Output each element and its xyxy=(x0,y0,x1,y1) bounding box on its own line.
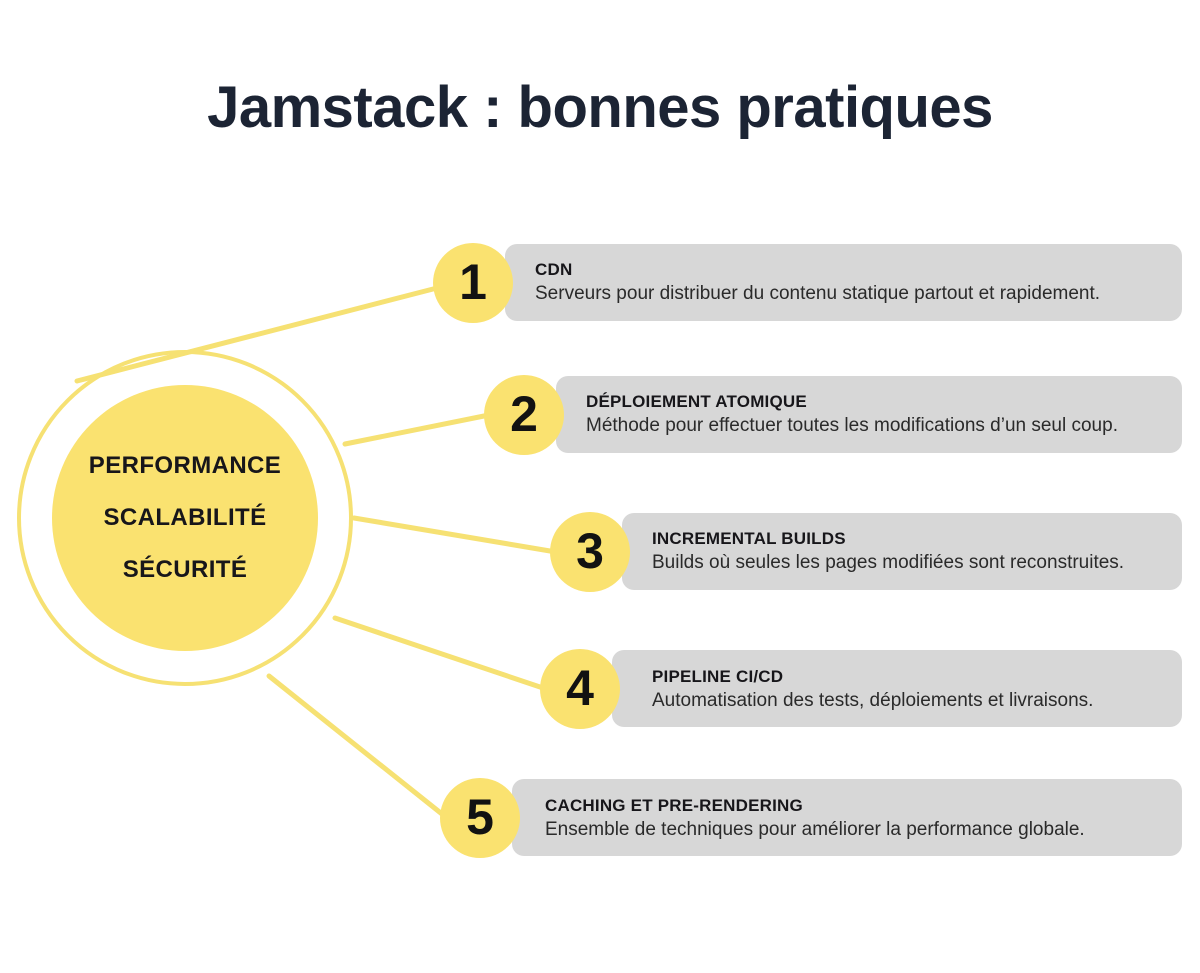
row-text-1: CDN Serveurs pour distribuer du contenu … xyxy=(535,260,1100,306)
row-circle-4[interactable]: 4 xyxy=(540,649,620,729)
row-description-5: Ensemble de techniques pour améliorer la… xyxy=(545,818,1085,842)
row-circle-1[interactable]: 1 xyxy=(433,243,513,323)
hub-core-circle: PERFORMANCE SCALABILITÉ SÉCURITÉ xyxy=(52,385,318,651)
row-title-4: PIPELINE CI/CD xyxy=(652,667,1093,687)
row-circle-3[interactable]: 3 xyxy=(550,512,630,592)
hub-label-performance: PERFORMANCE xyxy=(89,454,281,478)
row-title-1: CDN xyxy=(535,260,1100,280)
row-circle-2[interactable]: 2 xyxy=(484,375,564,455)
row-number-2: 2 xyxy=(510,389,538,439)
row-description-2: Méthode pour effectuer toutes les modifi… xyxy=(586,414,1118,438)
connector-line-4 xyxy=(335,618,546,689)
row-title-3: INCREMENTAL BUILDS xyxy=(652,529,1124,549)
row-text-5: CACHING ET PRE-RENDERING Ensemble de tec… xyxy=(545,796,1085,842)
hub-label-securite: SÉCURITÉ xyxy=(123,558,248,582)
row-description-4: Automatisation des tests, déploiements e… xyxy=(652,689,1093,713)
hub-label-scalabilite: SCALABILITÉ xyxy=(103,506,266,530)
row-title-2: DÉPLOIEMENT ATOMIQUE xyxy=(586,392,1118,412)
row-number-5: 5 xyxy=(466,792,494,842)
row-title-5: CACHING ET PRE-RENDERING xyxy=(545,796,1085,816)
row-number-4: 4 xyxy=(566,663,594,713)
row-text-2: DÉPLOIEMENT ATOMIQUE Méthode pour effect… xyxy=(586,392,1118,438)
row-text-4: PIPELINE CI/CD Automatisation des tests,… xyxy=(652,667,1093,713)
infographic-canvas: Jamstack : bonnes pratiques PERFORMANCE … xyxy=(0,0,1200,973)
page-title: Jamstack : bonnes pratiques xyxy=(0,74,1200,141)
central-hub: PERFORMANCE SCALABILITÉ SÉCURITÉ xyxy=(17,350,353,686)
row-number-1: 1 xyxy=(459,257,487,307)
connector-line-5 xyxy=(269,676,447,818)
row-description-3: Builds où seules les pages modifiées son… xyxy=(652,551,1124,575)
row-circle-5[interactable]: 5 xyxy=(440,778,520,858)
row-number-3: 3 xyxy=(576,526,604,576)
connector-line-2 xyxy=(345,415,489,444)
row-text-3: INCREMENTAL BUILDS Builds où seules les … xyxy=(652,529,1124,575)
connector-line-3 xyxy=(354,518,556,552)
row-description-1: Serveurs pour distribuer du contenu stat… xyxy=(535,282,1100,306)
